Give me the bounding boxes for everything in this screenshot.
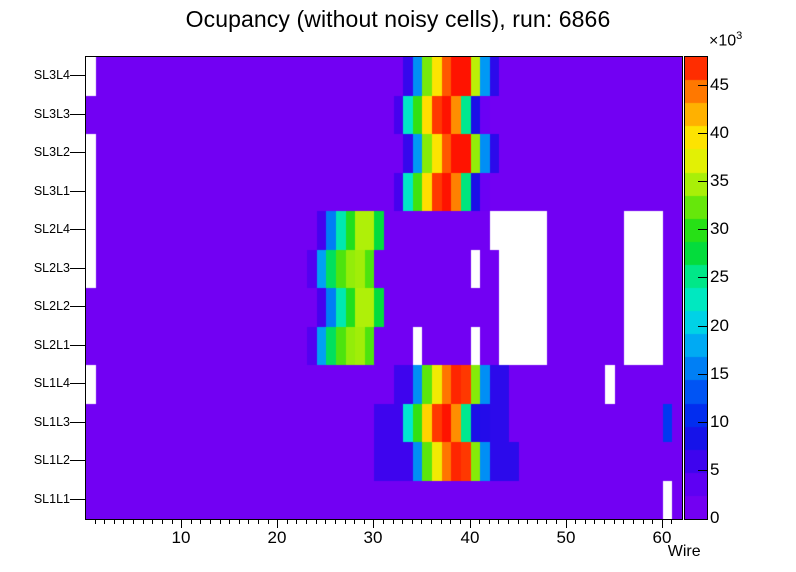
x-axis-label-40: 40 (461, 528, 480, 548)
x-axis-tick-minor (614, 519, 615, 524)
colorbar-tick-40 (698, 133, 708, 134)
x-axis-tick-minor (335, 519, 336, 524)
y-axis-tick (70, 345, 85, 346)
heatmap-plot[interactable] (85, 56, 683, 520)
y-axis-label-sl3l3: SL3L3 (34, 107, 70, 121)
x-axis-tick-minor (537, 519, 538, 524)
x-axis-tick-minor (450, 519, 451, 524)
x-axis-tick-minor (354, 519, 355, 524)
colorbar-tick-25 (698, 277, 708, 278)
colorbar-tick-5 (698, 470, 708, 471)
x-axis-tick-minor (306, 519, 307, 524)
y-axis-label-sl2l4: SL2L4 (34, 222, 70, 236)
x-axis-tick-minor (345, 519, 346, 524)
x-axis-tick-minor (441, 519, 442, 524)
y-axis-label-sl1l3: SL1L3 (34, 415, 70, 429)
y-axis-label-sl3l4: SL3L4 (34, 68, 70, 82)
page-title: Ocupancy (without noisy cells), run: 686… (0, 6, 796, 33)
colorbar-tick-15 (698, 374, 708, 375)
y-axis-label-sl1l1: SL1L1 (34, 492, 70, 506)
colorbar-label-30: 30 (710, 219, 729, 239)
x-axis-tick-minor (498, 519, 499, 524)
colorbar-tick-20 (698, 326, 708, 327)
x-axis-tick-minor (325, 519, 326, 524)
x-axis-tick-minor (643, 519, 644, 524)
colorbar-labels: 051015202530354045 (710, 56, 796, 526)
colorbar-label-40: 40 (710, 123, 729, 143)
x-axis-label-20: 20 (268, 528, 287, 548)
colorbar-tick-10 (698, 422, 708, 423)
y-axis-label-sl1l2: SL1L2 (34, 453, 70, 467)
x-axis-tick-minor (623, 519, 624, 524)
x-axis-title: Wire (668, 543, 701, 561)
y-axis: SL3L4SL3L3SL3L2SL3L1SL2L4SL2L3SL2L2SL2L1… (0, 56, 82, 518)
x-axis-tick-major (470, 519, 471, 528)
x-axis-tick-major (373, 519, 374, 528)
x-axis-tick-minor (508, 519, 509, 524)
y-axis-label-sl2l2: SL2L2 (34, 299, 70, 313)
x-axis-label-10: 10 (172, 528, 191, 548)
colorbar-exponent-power: 3 (736, 30, 742, 42)
colorbar-label-25: 25 (710, 267, 729, 287)
y-axis-tick (70, 114, 85, 115)
y-axis-tick (70, 229, 85, 230)
colorbar-label-10: 10 (710, 412, 729, 432)
y-axis-tick (70, 306, 85, 307)
x-axis-tick-minor (123, 519, 124, 524)
x-axis-tick-minor (162, 519, 163, 524)
x-axis-tick-minor (172, 519, 173, 524)
x-axis-tick-minor (431, 519, 432, 524)
x-axis-tick-major (662, 519, 663, 528)
x-axis-tick-minor (133, 519, 134, 524)
x-axis-tick-minor (316, 519, 317, 524)
y-axis-tick (70, 152, 85, 153)
colorbar-ticks (684, 56, 708, 518)
x-axis-tick-minor (258, 519, 259, 524)
x-axis-tick-minor (633, 519, 634, 524)
x-axis-tick-minor (114, 519, 115, 524)
x-axis-tick-minor (575, 519, 576, 524)
x-axis-tick-minor (287, 519, 288, 524)
x-axis-tick-minor (652, 519, 653, 524)
x-axis-tick-major (181, 519, 182, 528)
colorbar-exponent: ×103 (709, 30, 742, 50)
x-axis-tick-minor (412, 519, 413, 524)
x-axis-tick-minor (479, 519, 480, 524)
colorbar-tick-45 (698, 85, 708, 86)
x-axis-tick-minor (402, 519, 403, 524)
y-axis-label-sl3l1: SL3L1 (34, 184, 70, 198)
colorbar-tick-30 (698, 229, 708, 230)
x-axis-tick-minor (585, 519, 586, 524)
x-axis-tick-minor (104, 519, 105, 524)
x-axis-tick-minor (296, 519, 297, 524)
colorbar-label-20: 20 (710, 316, 729, 336)
x-axis-tick-minor (210, 519, 211, 524)
x-axis-tick-minor (200, 519, 201, 524)
x-axis-tick-minor (604, 519, 605, 524)
x-axis-label-30: 30 (364, 528, 383, 548)
y-axis-tick (70, 460, 85, 461)
x-axis-tick-major (277, 519, 278, 528)
colorbar-label-45: 45 (710, 75, 729, 95)
x-axis-tick-minor (527, 519, 528, 524)
y-axis-tick (70, 422, 85, 423)
x-axis-tick-minor (239, 519, 240, 524)
x-axis-tick-minor (229, 519, 230, 524)
colorbar-label-5: 5 (710, 460, 719, 480)
y-axis-label-sl3l2: SL3L2 (34, 145, 70, 159)
colorbar-label-0: 0 (710, 508, 719, 528)
colorbar-tick-35 (698, 181, 708, 182)
x-axis-tick-minor (248, 519, 249, 524)
x-axis-tick-minor (518, 519, 519, 524)
y-axis-label-sl2l3: SL2L3 (34, 261, 70, 275)
x-axis-tick-minor (191, 519, 192, 524)
heatmap-canvas[interactable] (86, 57, 682, 519)
colorbar-label-35: 35 (710, 171, 729, 191)
x-axis-tick-major (566, 519, 567, 528)
x-axis-tick-minor (556, 519, 557, 524)
x-axis-tick-minor (95, 519, 96, 524)
colorbar-exponent-base: ×10 (709, 32, 736, 49)
y-axis-tick (70, 191, 85, 192)
y-axis-label-sl2l1: SL2L1 (34, 338, 70, 352)
x-axis-tick-minor (460, 519, 461, 524)
x-axis-tick-minor (383, 519, 384, 524)
x-axis-tick-minor (546, 519, 547, 524)
x-axis-tick-minor (143, 519, 144, 524)
root-canvas: Ocupancy (without noisy cells), run: 686… (0, 0, 796, 572)
x-axis-tick-minor (489, 519, 490, 524)
x-axis-tick-minor (364, 519, 365, 524)
y-axis-tick (70, 383, 85, 384)
y-axis-tick (70, 268, 85, 269)
y-axis-tick (70, 75, 85, 76)
x-axis-tick-minor (421, 519, 422, 524)
y-axis-tick (70, 499, 85, 500)
x-axis-tick-minor (594, 519, 595, 524)
x-axis-tick-minor (152, 519, 153, 524)
y-axis-label-sl1l4: SL1L4 (34, 376, 70, 390)
x-axis-tick-minor (268, 519, 269, 524)
x-axis-tick-minor (393, 519, 394, 524)
colorbar-label-15: 15 (710, 364, 729, 384)
x-axis-tick-minor (671, 519, 672, 524)
x-axis-label-50: 50 (557, 528, 576, 548)
x-axis-tick-minor (220, 519, 221, 524)
